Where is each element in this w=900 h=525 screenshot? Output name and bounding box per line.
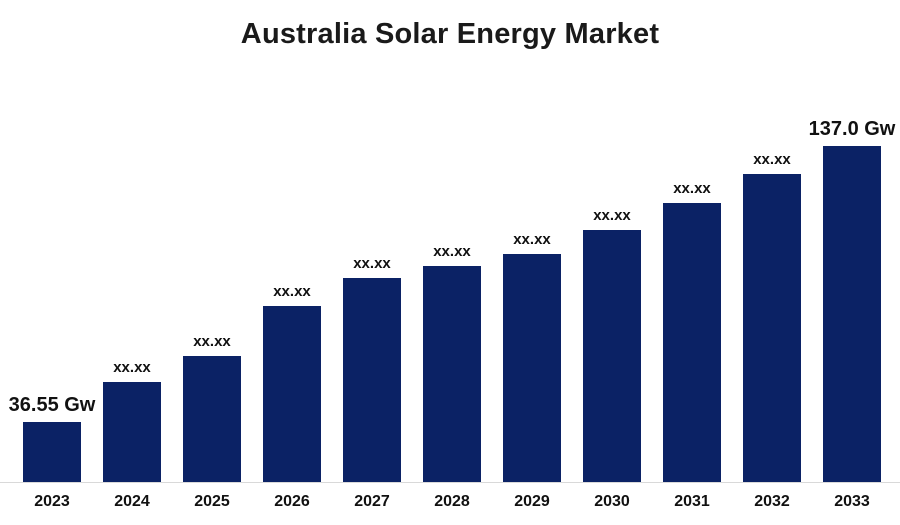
bar[interactable] xyxy=(663,203,721,482)
bar-value-label: 137.0 Gw xyxy=(809,119,896,139)
x-axis-ticks: 2023 2024 2025 2026 2027 2028 2029 2030 … xyxy=(14,487,890,517)
bar-value-label: xx.xx xyxy=(193,334,231,349)
bar-group-2031: xx.xx xyxy=(654,96,730,482)
bar[interactable] xyxy=(343,278,401,482)
bar[interactable] xyxy=(583,230,641,482)
bar-value-label: xx.xx xyxy=(673,181,711,196)
x-tick-label: 2033 xyxy=(814,487,890,517)
bar[interactable] xyxy=(23,422,81,482)
bar-value-label: xx.xx xyxy=(113,360,151,375)
bar-group-2033: 137.0 Gw xyxy=(814,96,890,482)
bar-value-label: xx.xx xyxy=(513,232,551,247)
x-tick-label: 2031 xyxy=(654,487,730,517)
bar-value-label: xx.xx xyxy=(433,244,471,259)
bar[interactable] xyxy=(823,146,881,482)
x-tick-label: 2025 xyxy=(174,487,250,517)
chart-container: Australia Solar Energy Market 36.55 Gw x… xyxy=(0,0,900,525)
x-tick-label: 2032 xyxy=(734,487,810,517)
bar[interactable] xyxy=(183,356,241,482)
x-tick-label: 2024 xyxy=(94,487,170,517)
x-tick-label: 2026 xyxy=(254,487,330,517)
plot-area: 36.55 Gw xx.xx xx.xx xx.xx xx.xx xx.xx xyxy=(0,96,900,482)
bar-group-2025: xx.xx xyxy=(174,96,250,482)
bar-group-2030: xx.xx xyxy=(574,96,650,482)
x-tick-label: 2029 xyxy=(494,487,570,517)
bar[interactable] xyxy=(103,382,161,482)
x-tick-label: 2023 xyxy=(14,487,90,517)
bar-value-label: xx.xx xyxy=(753,152,791,167)
bar-value-label: xx.xx xyxy=(353,256,391,271)
bar-value-label: xx.xx xyxy=(593,208,631,223)
bar-group-2032: xx.xx xyxy=(734,96,810,482)
bar-group-2027: xx.xx xyxy=(334,96,410,482)
x-tick-label: 2030 xyxy=(574,487,650,517)
x-tick-label: 2027 xyxy=(334,487,410,517)
bar-group-2029: xx.xx xyxy=(494,96,570,482)
chart-title: Australia Solar Energy Market xyxy=(0,18,900,51)
bar-group-2026: xx.xx xyxy=(254,96,330,482)
bar-group-2024: xx.xx xyxy=(94,96,170,482)
bar-group-2023: 36.55 Gw xyxy=(14,96,90,482)
bar-value-label: 36.55 Gw xyxy=(9,395,96,415)
bars-row: 36.55 Gw xx.xx xx.xx xx.xx xx.xx xx.xx xyxy=(14,96,890,482)
bar[interactable] xyxy=(503,254,561,482)
bar-group-2028: xx.xx xyxy=(414,96,490,482)
bar[interactable] xyxy=(263,306,321,482)
bar[interactable] xyxy=(743,174,801,482)
bar-value-label: xx.xx xyxy=(273,284,311,299)
bar[interactable] xyxy=(423,266,481,482)
x-axis-line xyxy=(0,482,900,483)
x-tick-label: 2028 xyxy=(414,487,490,517)
